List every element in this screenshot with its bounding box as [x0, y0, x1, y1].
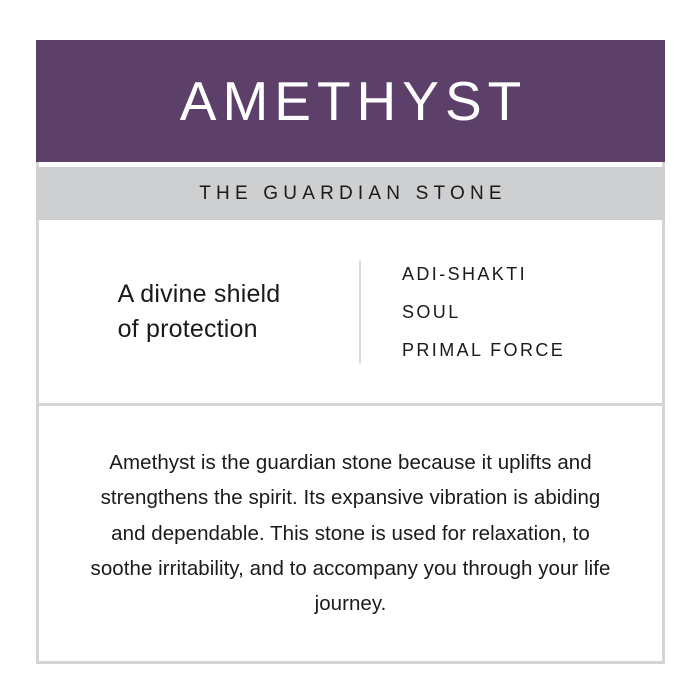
keyword-item: ADI-SHAKTI [402, 255, 662, 293]
keywords-column: ADI-SHAKTI SOUL PRIMAL FORCE [361, 260, 662, 364]
tagline-column: A divine shield of protection [39, 277, 359, 346]
keyword-item: PRIMAL FORCE [402, 331, 662, 369]
page-title: AMETHYST [174, 74, 527, 129]
tagline-line-2: of protection [118, 315, 258, 343]
keyword-item: SOUL [402, 293, 662, 331]
description-text: Amethyst is the guardian stone because i… [91, 445, 611, 621]
title-band: AMETHYST [36, 40, 665, 162]
subtitle-band: THE GUARDIAN STONE [36, 167, 665, 220]
subtitle-text: THE GUARDIAN STONE [194, 184, 507, 203]
tagline: A divine shield of protection [118, 277, 281, 346]
tagline-line-1: A divine shield [118, 280, 281, 308]
stone-info-card: AMETHYST THE GUARDIAN STONE A divine shi… [36, 40, 665, 664]
description-section: Amethyst is the guardian stone because i… [39, 406, 662, 661]
attributes-section: A divine shield of protection ADI-SHAKTI… [39, 220, 662, 403]
